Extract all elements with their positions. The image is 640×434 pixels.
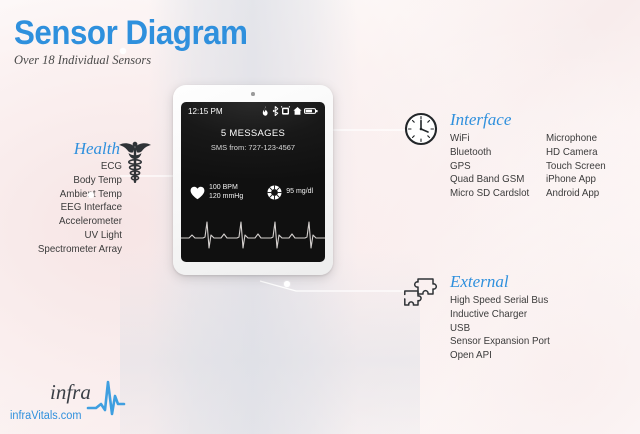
notification-headline: 5 MESSAGES [181, 128, 325, 139]
health-list: ECG Body Temp Ambient Temp EEG Interface… [0, 160, 122, 257]
list-item: Open API [450, 349, 550, 363]
list-item: GPS [450, 160, 539, 174]
glucose-sun-icon [267, 185, 282, 200]
section-external: External High Speed Serial Bus Inductive… [450, 272, 557, 363]
interface-list-right: Microphone HD Camera Touch Screen iPhone… [546, 132, 640, 201]
interface-columns: WiFi Bluetooth GPS Quad Band GSM Micro S… [450, 132, 640, 201]
device-mockup: 12:15 PM [173, 85, 333, 275]
list-item: Inductive Charger [450, 308, 550, 322]
vital-heart: 100 BPM 120 mmHg [190, 184, 243, 201]
status-time: 12:15 PM [188, 106, 223, 116]
brand-name: infra [50, 380, 91, 405]
vital-glucose: 95 mg/dl [267, 185, 313, 200]
list-item: Sensor Expansion Port [450, 335, 550, 349]
page-subtitle: Over 18 Individual Sensors [14, 53, 268, 68]
list-item: Quad Band GSM [450, 173, 539, 187]
external-list: High Speed Serial Bus Inductive Charger … [450, 294, 557, 363]
heart-icon [190, 186, 205, 200]
vital-glucose-values: 95 mg/dl [286, 188, 313, 197]
background-haze-lower [120, 250, 420, 434]
section-health: Health ECG Body Temp Ambient Temp EEG In… [0, 139, 122, 257]
external-heading: External [450, 272, 557, 292]
list-item: Bluetooth [450, 146, 539, 160]
device-screen[interactable]: 12:15 PM [181, 102, 325, 262]
caduceus-icon [118, 140, 152, 186]
list-item: Ambient Temp [9, 188, 122, 202]
hotspot-dot-vitals[interactable] [88, 192, 94, 198]
vital-line-1: 95 mg/dl [286, 188, 313, 197]
list-item: Micro SD Cardslot [450, 187, 539, 201]
flame-icon [262, 106, 269, 116]
vital-heart-values: 100 BPM 120 mmHg [209, 184, 243, 201]
brand-url[interactable]: infraVitals.com [10, 410, 81, 422]
alarm-clock-icon [281, 106, 290, 116]
vital-line-1: 100 BPM [209, 184, 243, 193]
notification-detail: SMS from: 727-123-4567 [181, 143, 325, 152]
battery-icon [304, 107, 318, 115]
section-interface: Interface WiFi Bluetooth GPS Quad Band G… [450, 110, 640, 201]
poster-canvas: Sensor Diagram Over 18 Individual Sensor… [0, 0, 640, 434]
list-item: Body Temp [9, 174, 122, 188]
vitals-row: 100 BPM 120 mmHg [181, 184, 325, 201]
health-heading: Health [0, 139, 122, 159]
status-bar: 12:15 PM [181, 102, 325, 120]
home-icon [293, 106, 302, 116]
list-item: USB [450, 322, 550, 336]
list-item: Accelerometer [9, 215, 122, 229]
camera-dot-icon [251, 92, 255, 96]
hotspot-dot-messages[interactable] [120, 48, 126, 54]
clock-icon [404, 112, 438, 146]
hotspot-dot-external[interactable] [284, 281, 290, 287]
title-block: Sensor Diagram Over 18 Individual Sensor… [14, 16, 268, 68]
list-item: WiFi [450, 132, 539, 146]
list-item: EEG Interface [9, 201, 122, 215]
list-item: ECG [9, 160, 122, 174]
pulse-wave-icon [86, 374, 126, 428]
list-item: Touch Screen [546, 160, 639, 174]
list-item: Microphone [546, 132, 639, 146]
interface-list-left: WiFi Bluetooth GPS Quad Band GSM Micro S… [450, 132, 546, 201]
puzzle-piece-icon [404, 276, 442, 310]
list-item: Android App [546, 187, 639, 201]
list-item: HD Camera [546, 146, 639, 160]
list-item: High Speed Serial Bus [450, 294, 550, 308]
bluetooth-icon [272, 106, 279, 116]
list-item: UV Light [9, 229, 122, 243]
status-icon-group [262, 106, 318, 116]
vital-line-2: 120 mmHg [209, 193, 243, 202]
brand-logo[interactable]: infra infraVitals.com [8, 374, 140, 430]
list-item: iPhone App [546, 173, 639, 187]
ecg-waveform [181, 204, 325, 256]
list-item: Spectrometer Array [9, 243, 122, 257]
interface-heading: Interface [450, 110, 640, 130]
page-title: Sensor Diagram [14, 16, 247, 50]
